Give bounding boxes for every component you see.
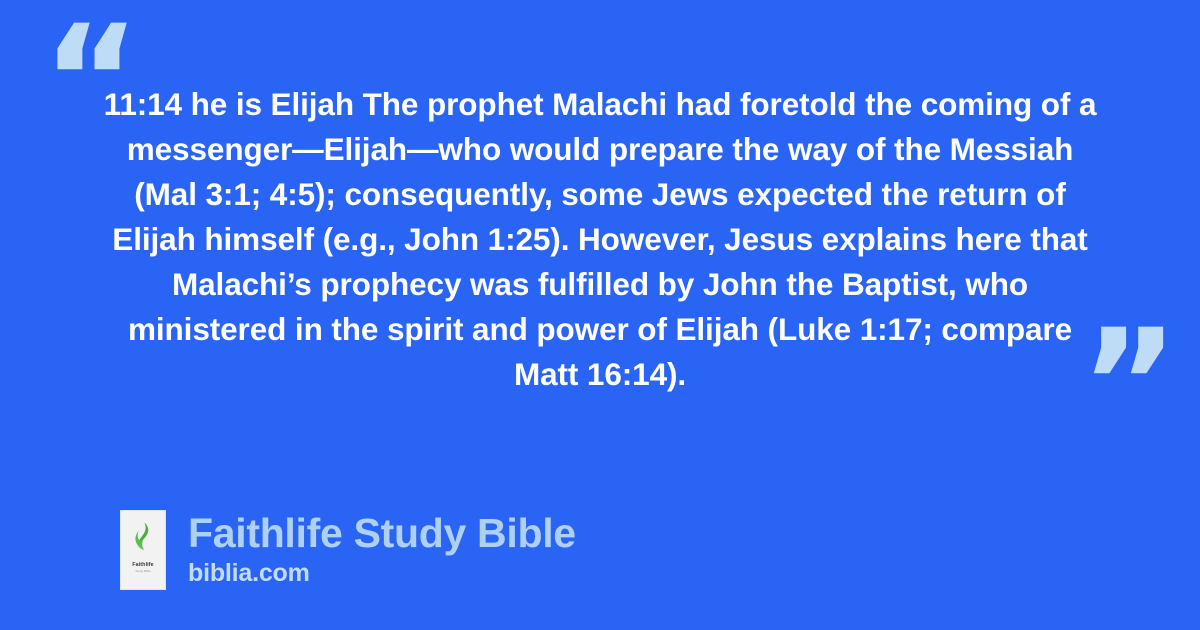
attribution-footer: Faithlife Study Bible Faithlife Study Bi… [120, 510, 576, 590]
faithlife-leaf-icon [131, 522, 155, 552]
book-cover-subtitle: Study Bible [135, 570, 150, 573]
book-cover-title: Faithlife [132, 563, 154, 568]
brand-text-block: Faithlife Study Bible biblia.com [188, 510, 576, 587]
quote-card: “ 11:14 he is Elijah The prophet Malachi… [0, 0, 1200, 630]
brand-site-url: biblia.com [188, 559, 576, 587]
quote-text: 11:14 he is Elijah The prophet Malachi h… [100, 82, 1100, 397]
brand-title: Faithlife Study Bible [188, 510, 576, 556]
closing-quote-icon: ” [1080, 310, 1179, 460]
book-cover-thumbnail: Faithlife Study Bible [120, 510, 166, 590]
